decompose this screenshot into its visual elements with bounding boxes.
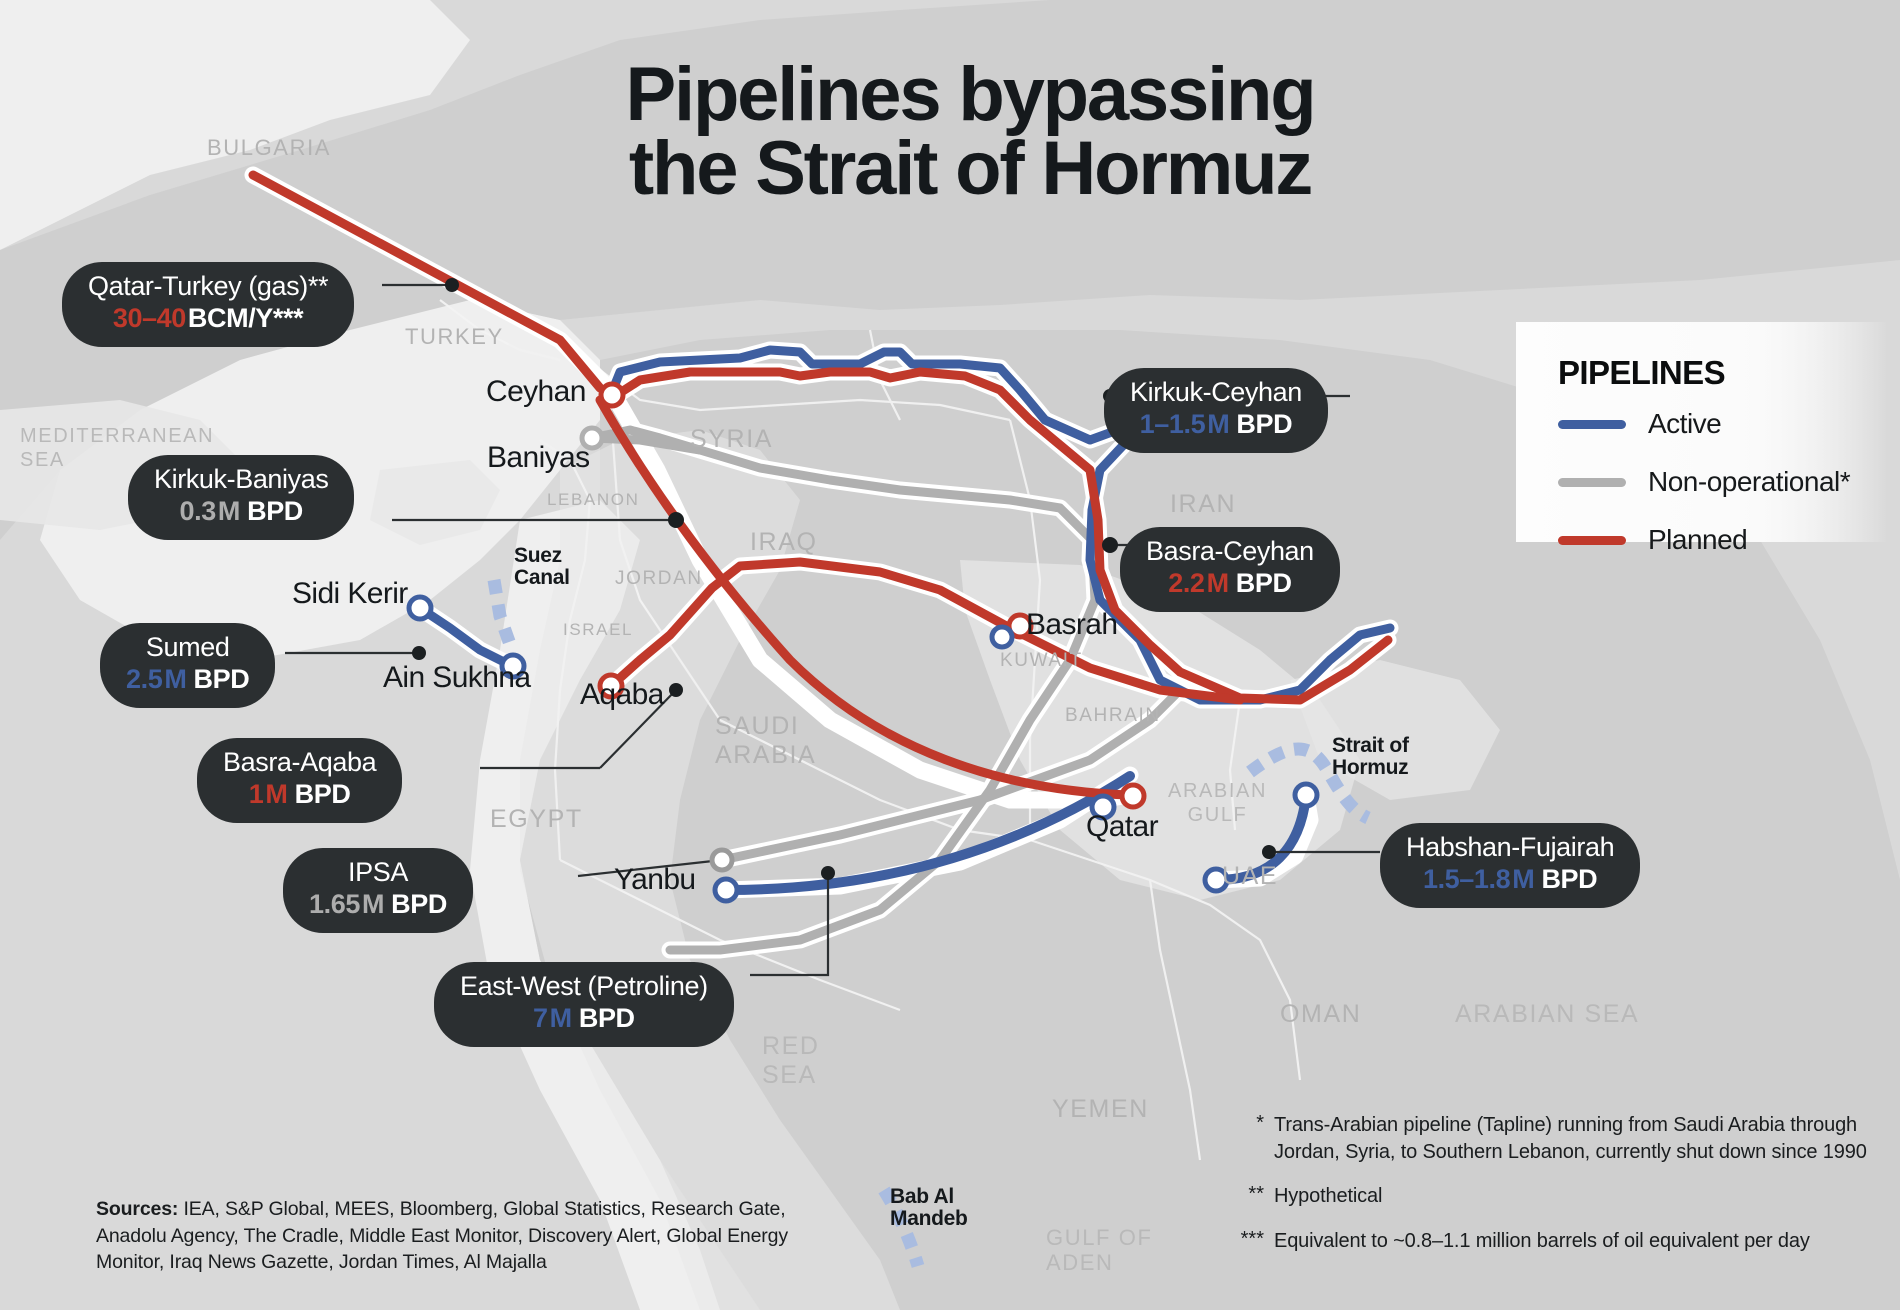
sources: Sources: IEA, S&P Global, MEES, Bloomber… — [96, 1196, 806, 1276]
country-label-uae: UAE — [1222, 862, 1278, 890]
chokepoint-suez-canal-marker — [494, 580, 512, 650]
value-m: M — [218, 496, 240, 526]
legend-label-planned: Planned — [1648, 524, 1747, 556]
value-unit: BPD — [579, 1003, 635, 1033]
city-label-ceyhan: Ceyhan — [486, 375, 586, 409]
country-label-saudi-arabia: SAUDI ARABIA — [715, 712, 816, 770]
sources-text: IEA, S&P Global, MEES, Bloomberg, Global… — [96, 1198, 788, 1273]
chokepoint-label-suez-canal: Suez Canal — [514, 545, 570, 589]
city-label-baniyas: Baniyas — [487, 441, 590, 475]
callout-sumed[interactable]: Sumed 2.5M BPD — [100, 623, 275, 708]
title-line-1: Pipelines bypassing — [490, 58, 1450, 132]
city-label-basrah: Basrah — [1026, 608, 1117, 642]
value-m: M — [1512, 864, 1534, 894]
country-label-iraq: IRAQ — [750, 528, 818, 556]
footnote-2-mark: ** — [1222, 1183, 1264, 1210]
callout-qatar-turkey[interactable]: Qatar-Turkey (gas)** 30–40BCM/Y*** — [62, 262, 354, 347]
country-label-egypt: EGYPT — [490, 805, 583, 833]
node-sidi-kerir — [409, 597, 431, 619]
country-label-bahrain: BAHRAIN — [1065, 705, 1161, 726]
value-number: 2.5 — [126, 664, 162, 694]
legend-swatch-planned — [1558, 536, 1626, 545]
value-number: 1–1.5 — [1140, 409, 1206, 439]
title-line-2: the Strait of Hormuz — [490, 132, 1450, 206]
footnote-2: ** Hypothetical — [1222, 1183, 1882, 1210]
value-m: M — [1207, 409, 1229, 439]
callout-basra-ceyhan-value: 2.2M BPD — [1146, 568, 1314, 599]
footnote-1: * Trans-Arabian pipeline (Tapline) runni… — [1222, 1112, 1882, 1165]
legend-swatch-active — [1558, 420, 1626, 429]
callout-sumed-value: 2.5M BPD — [126, 664, 249, 695]
value-unit: BPD — [194, 664, 250, 694]
callout-kirkuk-baniyas-name: Kirkuk-Baniyas — [154, 464, 328, 496]
value-m: M — [1207, 568, 1229, 598]
node-basrah-active — [992, 627, 1012, 647]
footnotes: * Trans-Arabian pipeline (Tapline) runni… — [1222, 1112, 1882, 1272]
callout-habshan-fujairah-value: 1.5–1.8M BPD — [1406, 864, 1614, 895]
legend-title: PIPELINES — [1558, 354, 1725, 392]
callout-sumed-name: Sumed — [126, 632, 249, 664]
chokepoint-label-strait-of-hormuz: Strait of Hormuz — [1332, 735, 1409, 779]
legend-swatch-nonoperational — [1558, 478, 1626, 487]
callout-habshan-fujairah[interactable]: Habshan-Fujairah 1.5–1.8M BPD — [1380, 823, 1640, 908]
country-label-kuwait: KUWAIT — [1000, 650, 1083, 671]
chokepoint-label-bab-al-mandeb: Bab Al Mandeb — [890, 1186, 968, 1230]
value-number: 7 — [533, 1003, 548, 1033]
callout-habshan-fujairah-name: Habshan-Fujairah — [1406, 832, 1614, 864]
value-m: M — [164, 664, 186, 694]
callout-basra-ceyhan-name: Basra-Ceyhan — [1146, 536, 1314, 568]
country-label-lebanon: LEBANON — [547, 490, 639, 509]
country-label-iran: IRAN — [1170, 490, 1236, 518]
value-unit: BPD — [295, 779, 351, 809]
sources-label: Sources: — [96, 1198, 178, 1220]
footnote-3-mark: *** — [1222, 1228, 1264, 1255]
callout-basra-ceyhan[interactable]: Basra-Ceyhan 2.2M BPD — [1120, 527, 1340, 612]
callout-kirkuk-baniyas-value: 0.3M BPD — [154, 496, 328, 527]
legend-item-nonoperational[interactable]: Non-operational* — [1558, 466, 1850, 498]
callout-basra-aqaba-name: Basra-Aqaba — [223, 747, 376, 779]
node-yanbu-ipsa — [712, 850, 732, 870]
sea-label-gulf-of-aden: GULF OF ADEN — [1046, 1225, 1153, 1276]
legend-item-active[interactable]: Active — [1558, 408, 1721, 440]
value-number: 30–40 — [113, 303, 186, 333]
node-ceyhan — [601, 384, 623, 406]
city-label-ain-sukhna: Ain Sukhna — [383, 661, 530, 695]
value-number: 1 — [249, 779, 264, 809]
country-label-israel: ISRAEL — [563, 620, 633, 639]
pipeline-qatar-turkey-planned — [253, 175, 1128, 795]
callout-qatar-turkey-value: 30–40BCM/Y*** — [88, 303, 328, 334]
legend-label-active: Active — [1648, 408, 1721, 440]
callout-kirkuk-ceyhan-name: Kirkuk-Ceyhan — [1130, 377, 1302, 409]
country-label-turkey: TURKEY — [405, 325, 504, 350]
value-number: 1.5–1.8 — [1423, 864, 1510, 894]
callout-east-west[interactable]: East-West (Petroline) 7M BPD — [434, 962, 734, 1047]
value-unit: BCM/Y*** — [188, 303, 303, 333]
node-qatar-planned — [1122, 785, 1144, 807]
value-number: 0.3 — [180, 496, 216, 526]
value-number: 1.65 — [309, 889, 360, 919]
callout-kirkuk-ceyhan-value: 1–1.5M BPD — [1130, 409, 1302, 440]
callout-ipsa-name: IPSA — [309, 857, 447, 889]
footnote-1-text: Trans-Arabian pipeline (Tapline) running… — [1274, 1112, 1882, 1165]
value-unit: BPD — [247, 496, 303, 526]
callout-basra-aqaba[interactable]: Basra-Aqaba 1M BPD — [197, 738, 402, 823]
callout-east-west-name: East-West (Petroline) — [460, 971, 708, 1003]
city-label-qatar: Qatar — [1086, 810, 1158, 844]
country-label-yemen: YEMEN — [1052, 1095, 1149, 1123]
value-unit: BPD — [1541, 864, 1597, 894]
callout-east-west-value: 7M BPD — [460, 1003, 708, 1034]
country-label-syria: SYRIA — [690, 425, 773, 453]
sea-label-arabian-gulf: ARABIAN GULF — [1168, 780, 1267, 827]
footnote-1-mark: * — [1222, 1112, 1264, 1165]
value-unit: BPD — [1236, 409, 1292, 439]
value-m: M — [550, 1003, 572, 1033]
sea-label-arabian-sea: ARABIAN SEA — [1455, 1000, 1639, 1028]
footnote-3: *** Equivalent to ~0.8–1.1 million barre… — [1222, 1228, 1882, 1255]
legend: PIPELINES Active Non-operational* Planne… — [1516, 322, 1888, 542]
value-unit: BPD — [1236, 568, 1292, 598]
legend-label-nonoperational: Non-operational* — [1648, 466, 1850, 498]
city-label-aqaba: Aqaba — [580, 678, 664, 712]
footnote-2-text: Hypothetical — [1274, 1183, 1382, 1210]
value-number: 2.2 — [1168, 568, 1204, 598]
footnote-3-text: Equivalent to ~0.8–1.1 million barrels o… — [1274, 1228, 1810, 1255]
country-label-bulgaria: BULGARIA — [207, 136, 331, 161]
callout-ipsa[interactable]: IPSA 1.65M BPD — [283, 848, 473, 933]
callout-basra-aqaba-value: 1M BPD — [223, 779, 376, 810]
city-label-yanbu: Yanbu — [614, 863, 696, 897]
value-unit: BPD — [391, 889, 447, 919]
page-title: Pipelines bypassing the Strait of Hormuz — [490, 58, 1450, 205]
callout-ipsa-value: 1.65M BPD — [309, 889, 447, 920]
infographic-map: Pipelines bypassing the Strait of Hormuz… — [0, 0, 1900, 1310]
value-m: M — [362, 889, 384, 919]
node-fujairah — [1295, 784, 1317, 806]
country-label-oman: OMAN — [1280, 1000, 1361, 1028]
sea-label-red-sea: RED SEA — [762, 1032, 820, 1090]
callout-qatar-turkey-name: Qatar-Turkey (gas)** — [88, 271, 328, 303]
city-label-sidi-kerir: Sidi Kerir — [292, 577, 408, 611]
value-m: M — [265, 779, 287, 809]
node-yanbu-east-west — [715, 879, 737, 901]
legend-item-planned[interactable]: Planned — [1558, 524, 1747, 556]
callout-kirkuk-ceyhan[interactable]: Kirkuk-Ceyhan 1–1.5M BPD — [1104, 368, 1328, 453]
country-label-jordan: JORDAN — [615, 568, 703, 589]
callout-kirkuk-baniyas[interactable]: Kirkuk-Baniyas 0.3M BPD — [128, 455, 354, 540]
